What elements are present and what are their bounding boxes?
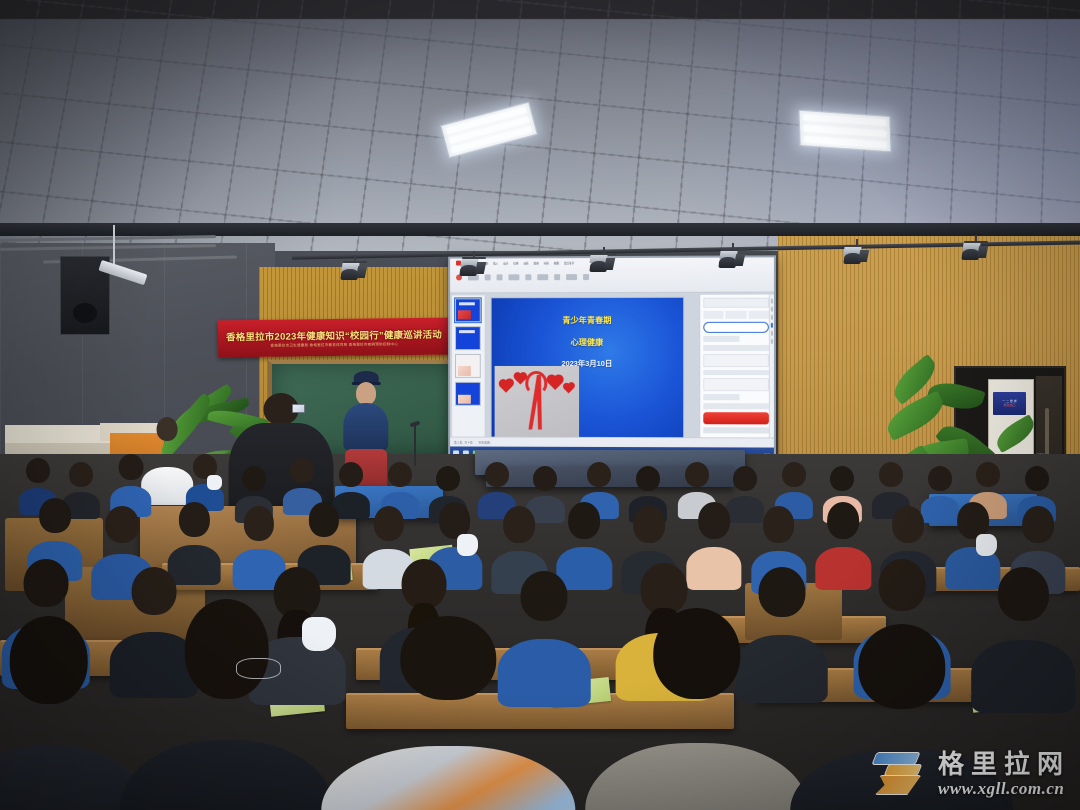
rail-tool-icon[interactable]	[771, 338, 774, 343]
audience-student	[173, 502, 216, 571]
panel-text-line	[704, 345, 769, 351]
rail-tool-icon[interactable]	[771, 314, 774, 319]
ppt-list-icon[interactable]	[526, 274, 532, 280]
ppt-side-toolbar[interactable]	[769, 294, 774, 443]
watermark-site-name: 格里拉网	[938, 751, 1070, 777]
ppt-tab-7[interactable]: 视图	[554, 261, 559, 265]
stage-spotlight	[842, 239, 872, 265]
audience-student	[481, 462, 513, 511]
current-slide: 青少年青春期 心理健康 2023年3月10日	[490, 296, 684, 439]
watermark-url: www.xgll.com.cn	[938, 780, 1070, 797]
banner-sub-text: 香格里拉市卫生健康局 香格里拉市教育体育局 香格里拉市疾病预防控制中心	[271, 342, 399, 349]
rail-tool-icon-active[interactable]	[771, 322, 774, 327]
photo-scene: 香格里拉市2023年健康知识“校园行”健康巡讲活动 香格里拉市卫生健康局 香格里…	[0, 0, 1080, 810]
health-worker-white-coat	[143, 417, 193, 498]
slide-image-red-ribbon	[495, 366, 579, 436]
language-label: 中文(简体)	[479, 440, 491, 444]
audience-student	[497, 506, 542, 579]
audience-student	[189, 454, 221, 503]
hanging-lamp-stem	[113, 225, 115, 269]
ppt-arrange-control[interactable]	[567, 274, 578, 280]
exit-sign-line2: 紧急出口	[1004, 404, 1016, 407]
ppt-thumbnail-3[interactable]	[455, 354, 481, 378]
ppt-tab-4[interactable]: 动画	[524, 261, 529, 265]
ceiling-edge-beam	[0, 223, 1080, 236]
audience-student	[778, 462, 810, 511]
panel-text-line	[704, 336, 740, 342]
ppt-tab-8[interactable]: 会员专享	[564, 261, 574, 265]
slide-count-label: 第 1 页，共 4 页	[454, 440, 473, 444]
stage-spotlight	[961, 235, 991, 261]
ppt-tab-3[interactable]: 切换	[513, 261, 518, 265]
panel-title-bar	[704, 297, 769, 307]
foreground-student	[0, 616, 119, 810]
panel-footnote	[704, 428, 769, 434]
audience-student	[238, 506, 281, 575]
ppt-shape-control[interactable]	[538, 274, 549, 280]
audience-student	[302, 502, 345, 571]
foreground-student-patterned-jacket	[356, 616, 540, 810]
stage-spotlight	[589, 247, 619, 273]
stage-spotlight	[340, 255, 370, 281]
heart-icon	[500, 380, 513, 393]
helping-hands-graphic	[500, 404, 571, 432]
presenter-at-podium	[343, 377, 388, 470]
stage-spotlight	[459, 251, 489, 277]
audience-student	[113, 454, 148, 507]
panel-membership-cta-button[interactable]	[704, 412, 769, 425]
stage-spotlight	[718, 243, 748, 269]
ppt-thumbnail-2[interactable]	[455, 326, 481, 350]
site-watermark: 格里拉网 www.xgll.com.cn	[872, 748, 1070, 800]
ppt-tab-1[interactable]: 插入	[493, 261, 498, 265]
panel-text-line	[704, 394, 740, 400]
ppt-align-control[interactable]	[509, 274, 520, 280]
heart-icon	[563, 383, 573, 393]
heart-icon	[549, 375, 563, 389]
ppt-fill-icon[interactable]	[555, 274, 561, 280]
audience-student	[821, 502, 866, 575]
ppt-italic-icon[interactable]	[497, 274, 503, 280]
rail-tool-icon[interactable]	[771, 330, 774, 335]
smartphone	[292, 404, 305, 413]
ppt-thumbnail-pane[interactable]	[452, 295, 486, 443]
audience-student	[950, 502, 995, 575]
panel-tab-row[interactable]	[704, 310, 769, 319]
foreground-student-with-glasses	[151, 599, 302, 810]
ceiling-light-panel	[799, 110, 892, 153]
eyeglasses-icon	[236, 658, 281, 678]
ppt-thumbnail-1[interactable]	[455, 298, 481, 322]
event-banner: 香格里拉市2023年健康知识“校园行”健康巡讲活动 香格里拉市卫生健康局 香格里…	[218, 318, 451, 358]
ppt-tab-6[interactable]: 审阅	[544, 261, 549, 265]
panel-text-line	[704, 370, 769, 376]
xgll-logo-icon	[872, 748, 930, 800]
ppt-thumbnail-4[interactable]	[455, 382, 481, 406]
audience-student	[875, 462, 907, 511]
banner-main-text: 香格里拉市2023年健康知识“校园行”健康巡讲活动	[226, 326, 442, 343]
audience-student	[562, 502, 607, 575]
audience-student	[383, 462, 415, 511]
audience-student	[32, 498, 77, 567]
panel-option-box[interactable]	[704, 354, 769, 367]
projection-screen: WPS 演示 开始 插入 设计 切换 动画 放映 审阅 视图 会员专享	[448, 255, 776, 464]
rail-tool-icon[interactable]	[771, 306, 774, 311]
rail-tool-icon[interactable]	[771, 298, 774, 303]
panel-search-input[interactable]	[704, 322, 769, 334]
slide-title-line2: 心理健康	[491, 335, 683, 347]
ppt-tab-2[interactable]: 设计	[503, 261, 508, 265]
slide-title-line1: 青少年青春期	[491, 314, 683, 326]
audience-student	[983, 567, 1064, 684]
foreground-student	[616, 608, 778, 810]
ppt-tab-5[interactable]: 放映	[534, 261, 539, 265]
panel-option-box[interactable]	[704, 378, 769, 391]
microphone-stand	[414, 425, 416, 466]
ppt-find-icon[interactable]	[584, 274, 590, 280]
audience-student	[286, 458, 318, 507]
panel-text-line	[704, 403, 769, 409]
ppt-template-panel[interactable]	[700, 294, 772, 443]
